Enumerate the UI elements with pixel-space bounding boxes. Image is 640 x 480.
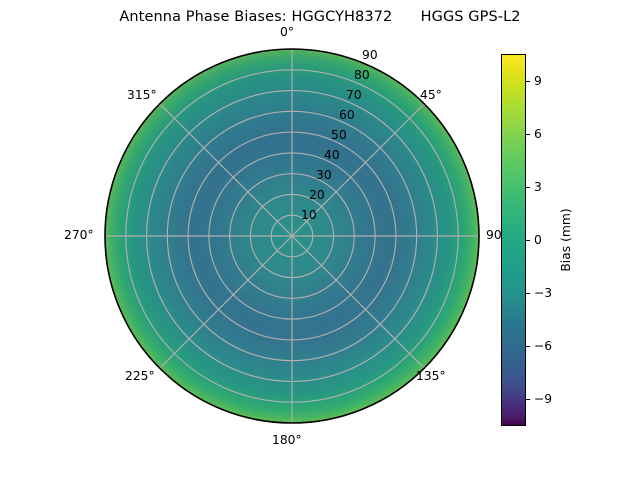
colorbar-tick-mark-3 <box>526 187 530 188</box>
angular-tick-0: 0° <box>280 26 294 38</box>
colorbar-gradient <box>501 54 526 426</box>
colorbar-tick-label-3: 3 <box>534 181 542 193</box>
angular-tick-270: 270° <box>64 229 94 241</box>
radial-tick-30: 30 <box>316 169 332 181</box>
colorbar-tick-mark-neg9 <box>526 399 530 400</box>
colorbar-tick-label-neg6: −6 <box>534 340 552 352</box>
colorbar-tick-label-9: 9 <box>534 74 542 86</box>
angular-gridlines <box>105 49 479 423</box>
chart-title: Antenna Phase Biases: HGGCYH8372 HGGS GP… <box>0 9 640 25</box>
radial-tick-10: 10 <box>301 209 317 221</box>
radial-tick-90: 90 <box>362 49 378 61</box>
angular-tick-180: 180° <box>272 434 302 446</box>
radial-tick-80: 80 <box>354 69 370 81</box>
colorbar-tick-label-neg3: −3 <box>534 287 552 299</box>
radial-tick-60: 60 <box>339 109 355 121</box>
angular-tick-225: 225° <box>125 370 155 382</box>
colorbar-axis-label: Bias (mm) <box>559 208 573 271</box>
angular-tick-45: 45° <box>420 89 442 101</box>
figure-canvas: Antenna Phase Biases: HGGCYH8372 HGGS GP… <box>0 0 640 480</box>
colorbar-tick-label-6: 6 <box>534 128 542 140</box>
colorbar-tick-mark-neg6 <box>526 346 530 347</box>
angular-tick-315: 315° <box>127 89 157 101</box>
polar-plot-svg <box>104 48 480 424</box>
angular-tick-90: 90 <box>486 229 502 241</box>
colorbar-tick-mark-neg3 <box>526 293 530 294</box>
angular-tick-135: 135° <box>416 370 446 382</box>
radial-tick-40: 40 <box>324 149 340 161</box>
colorbar-tick-label-neg9: −9 <box>534 393 552 405</box>
colorbar-tick-mark-9 <box>526 81 530 82</box>
polar-axes[interactable]: 0° 45° 90 135° 180° 225° 270° 315° 10 20… <box>104 48 480 424</box>
colorbar-axes[interactable]: 9 6 3 0 −3 −6 −9 <box>501 54 526 426</box>
radial-tick-70: 70 <box>346 89 362 101</box>
radial-tick-50: 50 <box>331 129 347 141</box>
colorbar-tick-mark-6 <box>526 134 530 135</box>
colorbar-tick-mark-0 <box>526 240 530 241</box>
radial-tick-20: 20 <box>309 189 325 201</box>
colorbar-tick-label-0: 0 <box>534 234 542 246</box>
